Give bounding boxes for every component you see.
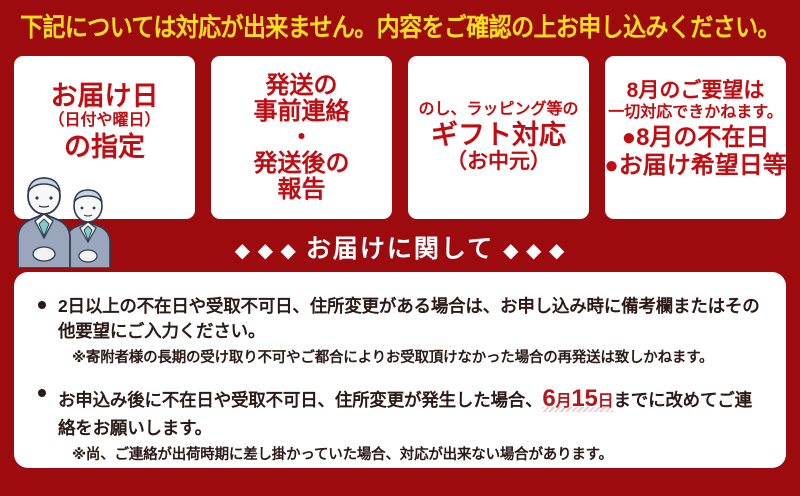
bullet-dot-icon (38, 389, 46, 397)
notice-1-note: ※寄附者様の長期の受け取り不可やご都合によりお受取頂けなかった場合の再発送は致し… (58, 348, 764, 368)
box2-line-2: 事前連絡 (254, 99, 350, 124)
deadline-highlight: 6月15日 (542, 390, 613, 412)
box4-line-1: 8月のご要望は (627, 80, 765, 102)
section-title: ◆ ◆ ◆ お届けに関して ◆ ◆ ◆ (235, 229, 566, 265)
notice-1-main: 2日以上の不在日や受取不可日、住所変更がある場合は、お申し込み時に備考欄またはそ… (58, 294, 764, 344)
header-text: 下記については対応が出来ません。内容をご確認の上お申し込みください。 (20, 6, 780, 44)
restriction-boxes: お届け日 （日付や曜日） の指定 発送の 事前連絡 ・ 発送後の 報告 のし、ラ… (14, 56, 786, 219)
box2-line-3: ・ (290, 125, 314, 150)
box-delivery-date-designation: お届け日 （日付や曜日） の指定 (14, 56, 195, 219)
notice-item-1: 2日以上の不在日や受取不可日、住所変更がある場合は、お申し込み時に備考欄またはそ… (36, 294, 764, 368)
notice-2-text-before: お申込み後に不在日や受取不可日、住所変更が発生した場合、 (58, 390, 542, 410)
box2-line-1: 発送の (266, 73, 338, 98)
box1-line-3: の指定 (64, 133, 145, 161)
section-title-text: お届けに関して (306, 235, 494, 263)
box3-line-3: （お中元） (446, 151, 551, 173)
notice-2-note: ※尚、ご連絡が出荷時期に差し掛かっていた場合、対応が出来ない場合があります。 (58, 445, 764, 465)
bullet-dot-icon (38, 301, 46, 309)
deadline-day-unit: 日 (598, 393, 614, 410)
delivery-notes-panel: 2日以上の不在日や受取不可日、住所変更がある場合は、お申し込み時に備考欄またはそ… (14, 272, 786, 468)
header-banner: 下記については対応が出来ません。内容をご確認の上お申し込みください。 (0, 0, 800, 50)
deadline-month-unit: 月 (556, 393, 572, 410)
box2-line-4: 発送後の (254, 151, 350, 176)
box-august-requests: 8月のご要望は 一切対応できかねます。 ●8月の不在日 ●お届け希望日等 (605, 56, 786, 219)
box1-line-2: （日付や曜日） (48, 113, 160, 130)
box3-line-1: のし、ラッピング等の (418, 102, 578, 119)
box4-bullet-1: ●8月の不在日 (622, 125, 770, 150)
notice-item-2: お申込み後に不在日や受取不可日、住所変更が発生した場合、6月15日までに改めてご… (36, 382, 764, 465)
diamond-right: ◆ ◆ ◆ (503, 240, 565, 262)
box4-line-2: 一切対応できかねます。 (608, 105, 782, 122)
deadline-month: 6 (542, 385, 555, 412)
box-shipping-notice: 発送の 事前連絡 ・ 発送後の 報告 (211, 56, 392, 219)
box3-line-2: ギフト対応 (431, 121, 566, 149)
diamond-left: ◆ ◆ ◆ (235, 240, 297, 262)
box2-line-5: 報告 (278, 177, 326, 202)
notice-2-main: お申込み後に不在日や受取不可日、住所変更が発生した場合、6月15日までに改めてご… (58, 382, 764, 441)
notice-page: 下記については対応が出来ません。内容をご確認の上お申し込みください。 お届け日 … (0, 0, 800, 496)
section-title-band: ◆ ◆ ◆ お届けに関して ◆ ◆ ◆ (0, 224, 800, 270)
box4-bullet-2: ●お届け希望日等 (605, 153, 786, 178)
box-gift-wrapping: のし、ラッピング等の ギフト対応 （お中元） (408, 56, 589, 219)
deadline-day: 15 (571, 385, 597, 412)
box1-line-1: お届け日 (51, 82, 159, 110)
